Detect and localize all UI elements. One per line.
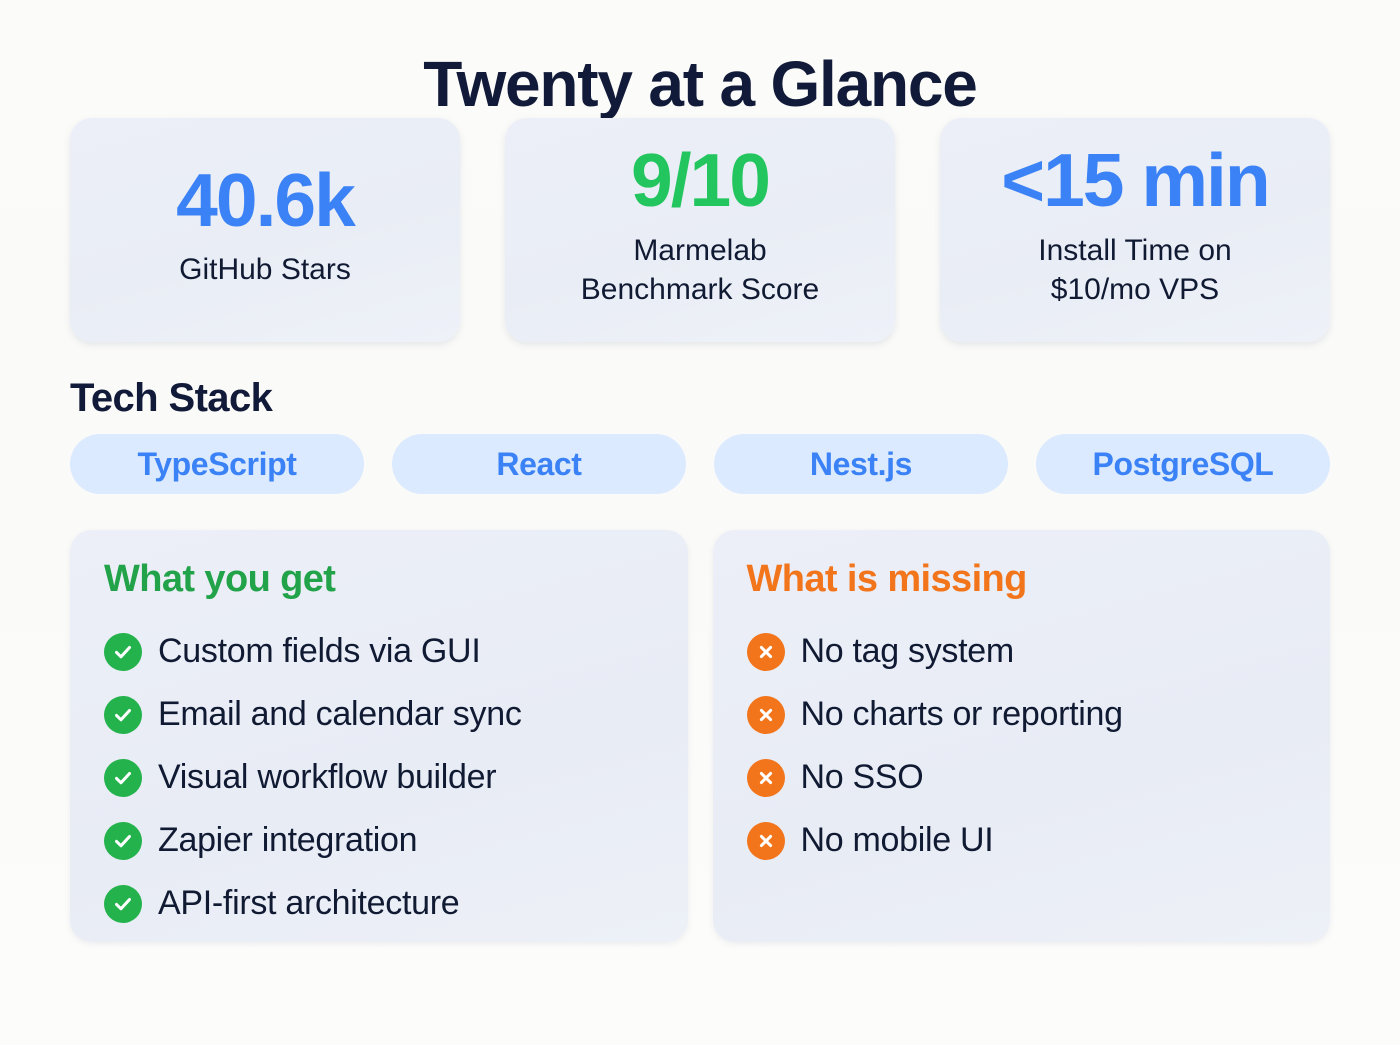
stats-row: 40.6k GitHub Stars 9/10 MarmelabBenchmar… [70, 118, 1330, 342]
tech-pill-postgresql[interactable]: PostgreSQL [1036, 434, 1330, 494]
list-item: Custom fields via GUI [104, 620, 654, 683]
panel-heading: What is missing [747, 560, 1297, 598]
tech-pill-nestjs[interactable]: Nest.js [714, 434, 1008, 494]
list-item-label: No tag system [801, 633, 1014, 670]
list-item: No charts or reporting [747, 683, 1297, 746]
list-item: API-first architecture [104, 872, 654, 935]
list-item-label: Email and calendar sync [158, 696, 522, 733]
x-circle-icon [747, 759, 785, 797]
stat-label: GitHub Stars [179, 250, 351, 290]
x-circle-icon [747, 822, 785, 860]
tech-pill-react[interactable]: React [392, 434, 686, 494]
tech-pill-typescript[interactable]: TypeScript [70, 434, 364, 494]
list-item: No SSO [747, 746, 1297, 809]
stat-card-github-stars: 40.6k GitHub Stars [70, 118, 460, 342]
check-circle-icon [104, 633, 142, 671]
stat-value: <15 min [1001, 142, 1268, 219]
x-circle-icon [747, 633, 785, 671]
panel-heading: What you get [104, 560, 654, 598]
panel-what-is-missing: What is missing No tag system No charts … [713, 530, 1331, 942]
check-circle-icon [104, 822, 142, 860]
list-item: Visual workflow builder [104, 746, 654, 809]
stat-card-install-time: <15 min Install Time on$10/mo VPS [940, 118, 1330, 342]
stat-value: 40.6k [176, 162, 354, 239]
feature-list-missing: No tag system No charts or reporting No … [747, 620, 1297, 872]
list-item-label: No SSO [801, 759, 924, 796]
x-circle-icon [747, 696, 785, 734]
list-item-label: No charts or reporting [801, 696, 1123, 733]
check-circle-icon [104, 696, 142, 734]
tech-stack-pill-row: TypeScript React Nest.js PostgreSQL [70, 434, 1330, 494]
stat-label: Install Time on$10/mo VPS [1038, 231, 1231, 310]
list-item: No mobile UI [747, 809, 1297, 872]
list-item-label: No mobile UI [801, 822, 994, 859]
list-item: No tag system [747, 620, 1297, 683]
stat-label: MarmelabBenchmark Score [581, 231, 819, 310]
list-item-label: Custom fields via GUI [158, 633, 480, 670]
stat-value: 9/10 [631, 142, 769, 219]
page-title: Twenty at a Glance [70, 0, 1330, 118]
infographic-page: Twenty at a Glance 40.6k GitHub Stars 9/… [0, 0, 1400, 1045]
list-item-label: Visual workflow builder [158, 759, 496, 796]
check-circle-icon [104, 885, 142, 923]
comparison-panels-row: What you get Custom fields via GUI Email… [70, 530, 1330, 942]
list-item: Zapier integration [104, 809, 654, 872]
list-item-label: Zapier integration [158, 822, 417, 859]
list-item-label: API-first architecture [158, 885, 459, 922]
tech-stack-heading: Tech Stack [70, 378, 1330, 418]
list-item: Email and calendar sync [104, 683, 654, 746]
check-circle-icon [104, 759, 142, 797]
feature-list-included: Custom fields via GUI Email and calendar… [104, 620, 654, 935]
panel-what-you-get: What you get Custom fields via GUI Email… [70, 530, 688, 942]
stat-card-benchmark-score: 9/10 MarmelabBenchmark Score [505, 118, 895, 342]
